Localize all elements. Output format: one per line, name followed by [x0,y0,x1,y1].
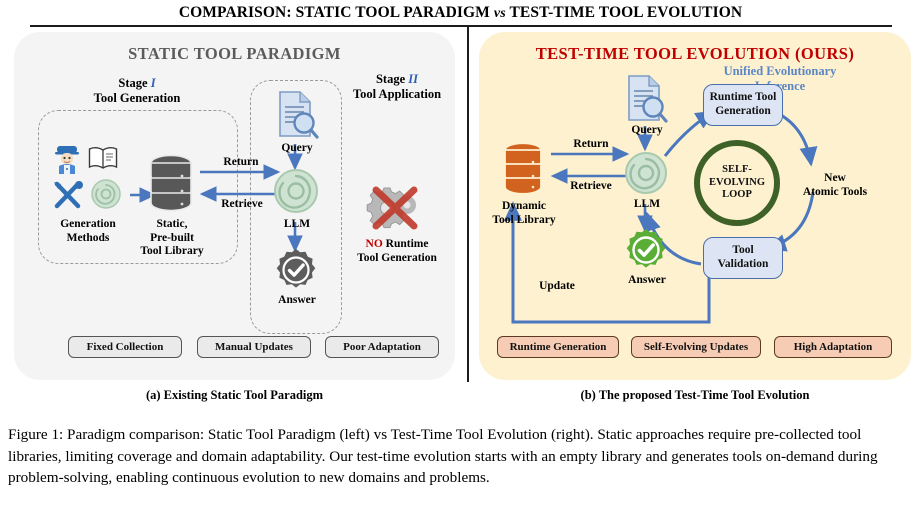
llm-label-right: LLM [607,198,687,212]
pill-high-adaptation[interactable]: High Adaptation [774,336,892,358]
no-runtime-red: NO [366,238,383,250]
runtime-tool-generation-box[interactable]: Runtime Tool Generation [703,84,783,126]
figure-title-tail: TEST-TIME TOOL EVOLUTION [509,4,742,21]
figure-title-main: COMPARISON: STATIC TOOL PARADIGM [179,4,490,21]
no-runtime-rest: Runtime [383,238,429,250]
figure-title-vs: vs [494,6,506,21]
dynamic-tool-library-label: Dynamic Tool Library [481,200,567,227]
database-orange-icon [501,142,545,196]
retrieve-arrow-label-right: Retrieve [549,180,633,194]
answer-label-left: Answer [257,294,337,308]
query-label-left: Query [257,142,337,156]
new-atomic-tools-label: New Atomic Tools [789,172,881,199]
check-badge-grey-icon [274,248,318,292]
right-subcaption: (b) The proposed Test-Time Tool Evolutio… [479,388,911,403]
pill-runtime-generation[interactable]: Runtime Generation [497,336,619,358]
pill-manual-updates[interactable]: Manual Updates [197,336,311,358]
no-runtime-line2: Tool Generation [357,252,437,264]
self-evolving-loop-circle: SELF- EVOLVING LOOP [694,140,780,226]
return-arrow-label-right: Return [551,138,631,152]
document-search-icon [276,90,318,140]
static-tool-paradigm-panel: STATIC TOOL PARADIGM Stage I Tool Genera… [14,32,455,380]
query-label-right: Query [607,124,687,138]
database-grey-icon [147,154,195,212]
update-arrow-label: Update [521,280,593,294]
test-time-tool-evolution-panel: TEST-TIME TOOL EVOLUTION (OURS) Unified … [479,32,911,380]
pill-self-evolving-updates[interactable]: Self-Evolving Updates [631,336,761,358]
vertical-divider [467,25,469,382]
llm-flower-icon [272,167,320,215]
horizontal-divider [30,25,892,27]
document-search-icon [625,74,667,124]
static-tool-library-label: Static, Pre-built Tool Library [129,218,215,259]
llm-flower-icon [623,150,669,196]
no-runtime-generation-label: NO Runtime Tool Generation [344,238,450,265]
figure-title: COMPARISON: STATIC TOOL PARADIGM vs TEST… [0,4,921,22]
gear-crossed-out-icon [366,182,424,234]
answer-label-right: Answer [607,274,687,288]
figure-caption: Figure 1: Paradigm comparison: Static To… [8,424,913,489]
llm-label-left: LLM [257,218,337,232]
pill-poor-adaptation[interactable]: Poor Adaptation [325,336,439,358]
pill-fixed-collection[interactable]: Fixed Collection [68,336,182,358]
return-arrow-label: Return [199,156,283,170]
tool-validation-box[interactable]: Tool Validation [703,237,783,279]
check-badge-green-icon [624,228,668,272]
left-subcaption: (a) Existing Static Tool Paradigm [14,388,455,403]
